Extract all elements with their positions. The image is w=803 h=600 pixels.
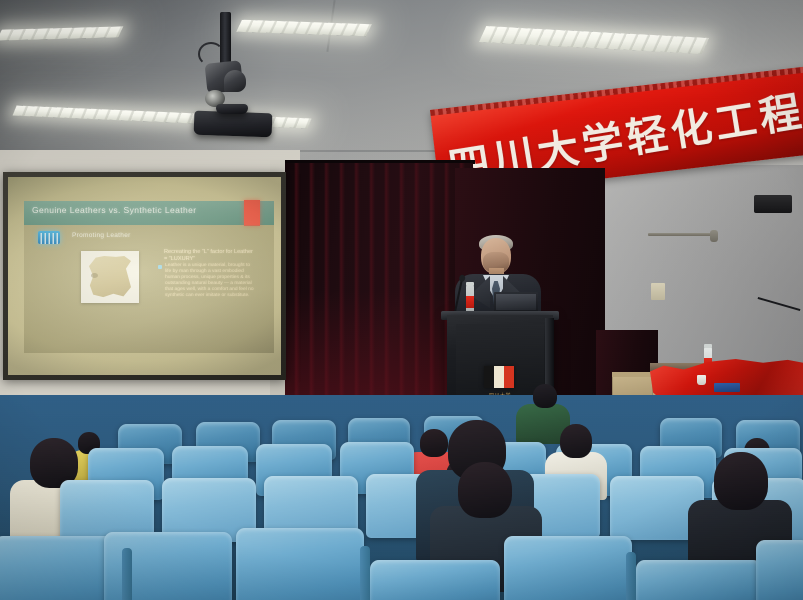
- attendee-head: [420, 429, 448, 457]
- sichuan-university-logo: [484, 366, 514, 388]
- logo-stripe-black: [484, 366, 494, 388]
- logo-stripe-cream: [494, 366, 504, 388]
- projector-mount-arm: [224, 70, 246, 92]
- slide-title: Genuine Leathers vs. Synthetic Leather: [32, 205, 197, 215]
- laptop-screen: [496, 294, 536, 310]
- slide-subtitle: Promoting Leather: [72, 232, 131, 239]
- lecture-hall-photo: 四川大学轻化工程专业 “卓越 Genuine Leathers vs. Synt…: [0, 0, 803, 600]
- leather-hide-photo: [81, 251, 139, 303]
- seat-armrest: [360, 546, 370, 600]
- wall-speaker-box: [754, 195, 792, 213]
- slide-right-body: Leather is a unique material, brought to…: [165, 263, 255, 300]
- seat: [636, 560, 762, 600]
- ceiling-projector: [194, 111, 273, 138]
- logo-bars: [38, 233, 60, 244]
- slide-bullet-icon: [158, 265, 162, 269]
- wall-rail-bracket: [710, 230, 718, 242]
- attendee-head: [714, 452, 768, 510]
- seat-armrest: [122, 548, 132, 600]
- paper-cup: [697, 375, 706, 385]
- attendee-head: [458, 462, 512, 518]
- projector-foot: [216, 104, 248, 114]
- bottle-cap: [466, 282, 474, 286]
- powerpoint-slide: Genuine Leathers vs. Synthetic Leather P…: [24, 201, 274, 353]
- stage-curtain: [285, 163, 473, 400]
- seat: [504, 536, 632, 600]
- attendee-head: [560, 424, 592, 458]
- seat: [370, 560, 500, 600]
- wall-switch-plate: [651, 283, 665, 300]
- wall-mounted-rail: [648, 233, 716, 236]
- blue-box: [714, 383, 740, 392]
- projection-screen-frame: Genuine Leathers vs. Synthetic Leather P…: [3, 172, 286, 380]
- slide-right-heading: Recreating the “L” factor for Leather = …: [164, 249, 256, 263]
- curtain-glow: [285, 291, 473, 400]
- seat: [236, 528, 364, 600]
- box-top-flap: [612, 372, 654, 377]
- bar-chart-logo-icon: [38, 231, 60, 244]
- seat-armrest: [626, 552, 636, 600]
- projection-screen: Genuine Leathers vs. Synthetic Leather P…: [8, 177, 281, 375]
- bottle-label: [466, 296, 474, 308]
- slide-accent-block: [244, 200, 260, 226]
- podium-water-bottle: [466, 285, 474, 313]
- bottle-cap: [704, 344, 712, 348]
- attendee-head: [533, 384, 557, 408]
- logo-stripe-red: [504, 366, 514, 388]
- leather-hide-mark: [91, 273, 98, 278]
- seat: [756, 540, 803, 600]
